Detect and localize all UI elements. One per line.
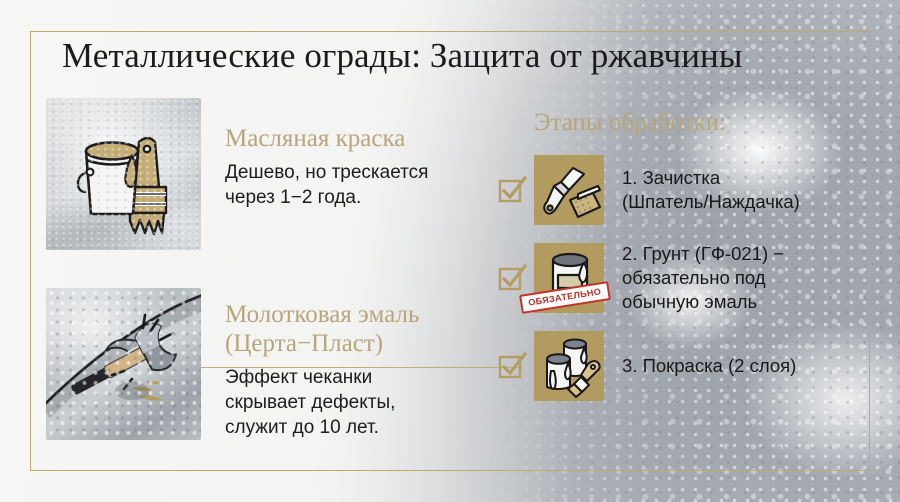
right-column: Этапы обработки: <box>498 108 870 418</box>
checked-checkbox-icon[interactable] <box>498 265 524 291</box>
hammer-striking-metal-photo <box>46 288 201 440</box>
paint-type-block-oil: Масляная краска Дешево, но трескается че… <box>46 98 476 250</box>
photo-grain <box>46 98 201 250</box>
checked-checkbox-icon[interactable] <box>498 353 524 379</box>
hammer-enamel-body: Эффект чеканки скрывает дефекты, служит … <box>225 365 419 440</box>
steps-list: 1. Зачистка (Шпатель/Наждачка) <box>498 155 870 401</box>
primer-can-icon: ОБЯЗАТЕЛЬНО <box>534 243 604 313</box>
step-label: 2. Грунт (ГФ-021) − обязательно под обыч… <box>622 242 784 314</box>
stages-heading: Этапы обработки: <box>534 108 870 137</box>
oil-paint-body: Дешево, но трескается через 1−2 года. <box>225 160 428 210</box>
step-label: 1. Зачистка (Шпатель/Наждачка) <box>622 166 800 214</box>
slide-root: Металлические ограды: Защита от ржавчины <box>0 0 900 502</box>
oil-paint-text: Масляная краска Дешево, но трескается че… <box>225 98 428 210</box>
scraper-and-sandpaper-icon <box>534 155 604 225</box>
left-column: Масляная краска Дешево, но трескается че… <box>46 98 476 440</box>
oil-paint-heading: Масляная краска <box>225 124 428 153</box>
step-item[interactable]: ОБЯЗАТЕЛЬНО 2. Грунт (ГФ-021) − обязател… <box>498 242 870 314</box>
hammer-enamel-text: Молотковая эмаль (Церта−Пласт) Эффект че… <box>225 288 419 440</box>
page-title: Металлические ограды: Защита от ржавчины <box>62 36 852 76</box>
hammer-enamel-heading: Молотковая эмаль (Церта−Пласт) <box>225 300 419 358</box>
paint-bucket-and-brush-photo <box>46 98 201 250</box>
step-item[interactable]: 3. Покраска (2 слоя) <box>498 331 870 401</box>
photo-grain <box>46 288 201 440</box>
paint-type-block-hammer: Молотковая эмаль (Церта−Пласт) Эффект че… <box>46 288 476 440</box>
step-item[interactable]: 1. Зачистка (Шпатель/Наждачка) <box>498 155 870 225</box>
paint-cans-and-brush-icon <box>534 331 604 401</box>
checked-checkbox-icon[interactable] <box>498 177 524 203</box>
step-label: 3. Покраска (2 слоя) <box>622 354 796 378</box>
